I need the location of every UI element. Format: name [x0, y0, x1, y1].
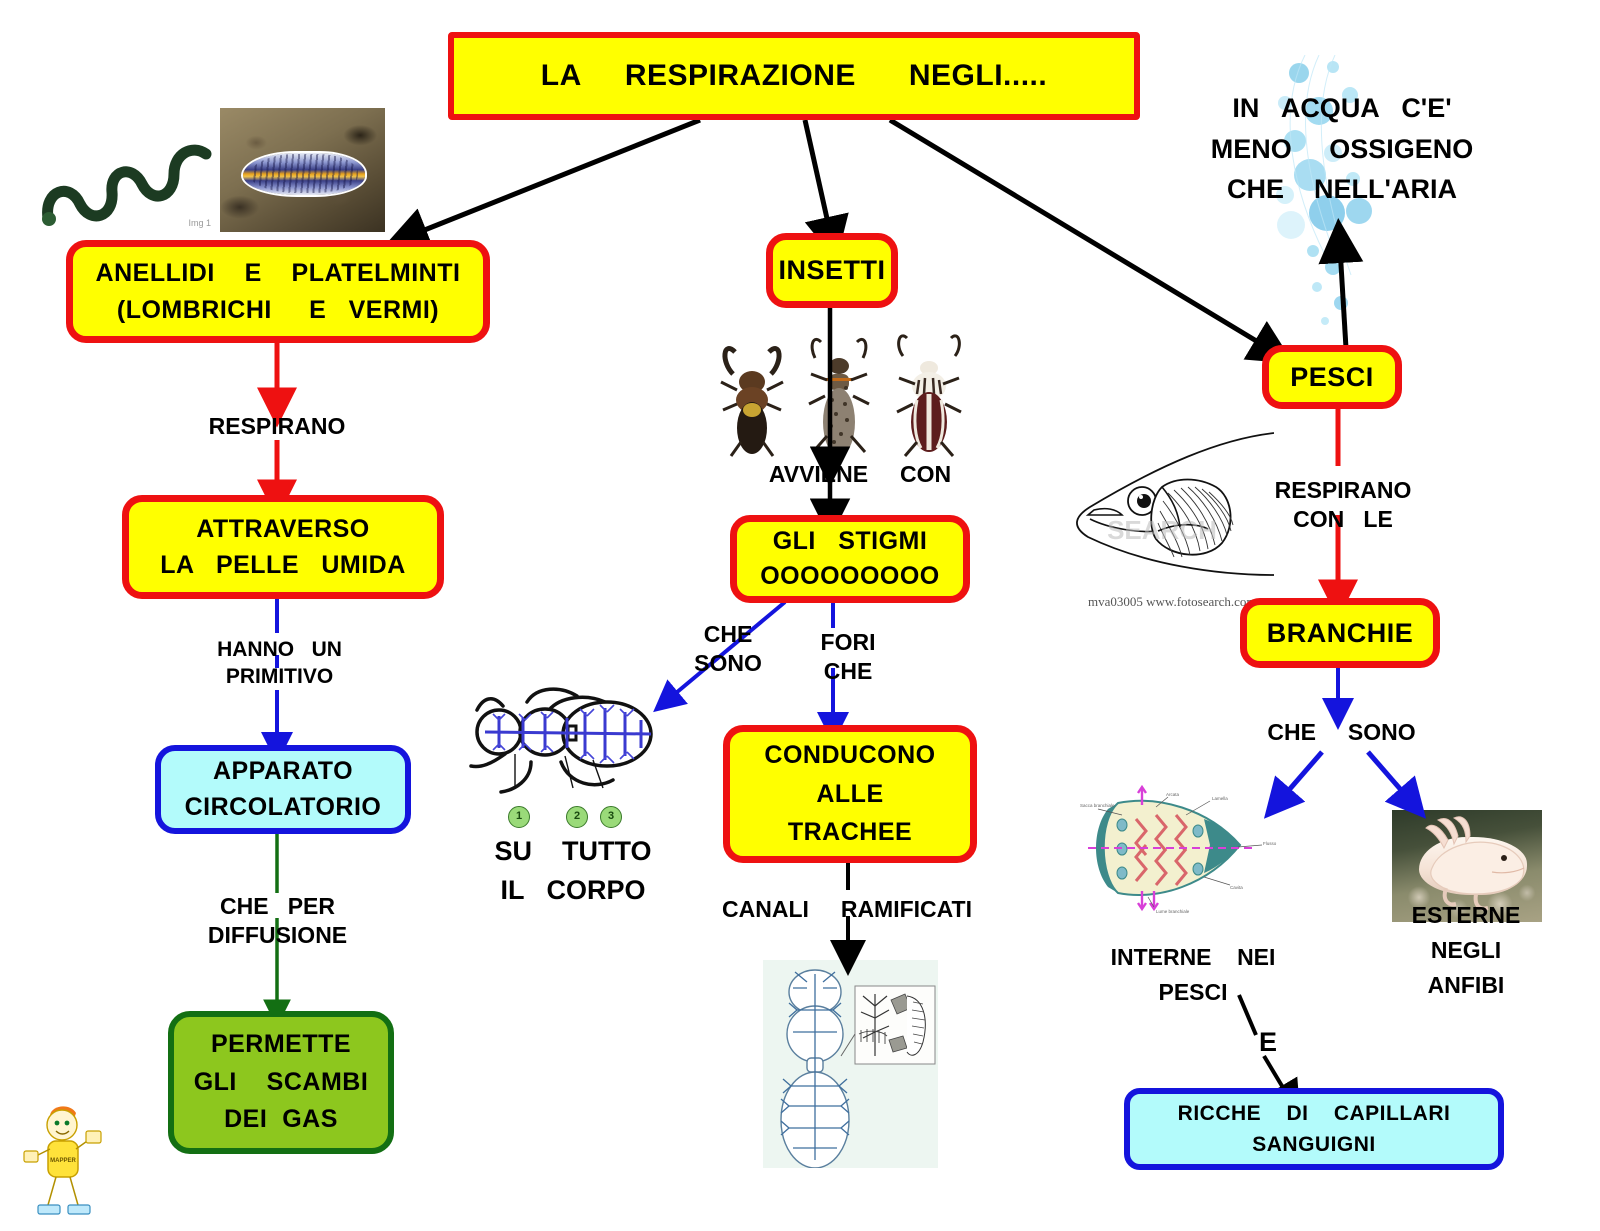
label-e-connector: E	[1248, 1025, 1288, 1060]
node-pelle-line1: ATTRAVERSO	[196, 511, 370, 547]
node-pesci-label: PESCI	[1290, 362, 1374, 393]
node-trachee-line1: CONDUCONO	[764, 736, 935, 775]
annotation-acqua-ossigeno: IN ACQUA C'E' MENO OSSIGENO CHE NELL'ARI…	[1192, 88, 1492, 210]
svg-text:Arcata: Arcata	[1166, 792, 1180, 797]
node-branchie-label: BRANCHIE	[1267, 618, 1414, 649]
svg-text:Sacca branchiale: Sacca branchiale	[1080, 803, 1115, 808]
node-stigmi-line2: OOOOOOOOO	[760, 559, 940, 595]
fish-watermark: mva03005 www.fotosearch.com	[1088, 594, 1256, 610]
node-anellidi[interactable]: ANELLIDI E PLATELMINTI (LOMBRICHI E VERM…	[66, 240, 490, 343]
ant-marker-1: 1	[508, 806, 530, 828]
label-avviene-con: AVVIENE CON	[755, 460, 965, 489]
mascot-figure: MAPPER	[20, 1095, 110, 1225]
label-fori-che: FORI CHE	[807, 628, 889, 687]
ant-marker-2: 2	[566, 806, 588, 828]
annotation-esterne-negli-anfibi: ESTERNE NEGLI ANFIBI	[1382, 898, 1550, 1003]
node-stigmi[interactable]: GLI STIGMI OOOOOOOOO	[730, 515, 970, 603]
node-pesci[interactable]: PESCI	[1262, 345, 1402, 409]
concept-map-canvas: Img 1	[0, 0, 1600, 1231]
node-capillari-line2: SANGUIGNI	[1252, 1129, 1376, 1161]
label-che-sono-left: CHE SONO	[688, 620, 768, 679]
node-trachee-line2: ALLE	[816, 775, 883, 814]
svg-text:Lamella: Lamella	[1212, 796, 1228, 801]
flatworm-body	[243, 153, 365, 195]
node-stigmi-line1: GLI STIGMI	[773, 524, 928, 560]
node-permette-line2: GLI SCAMBI	[194, 1064, 369, 1102]
node-trachee[interactable]: CONDUCONO ALLE TRACHEE	[723, 725, 977, 863]
node-title-label: LA RESPIRAZIONE NEGLI.....	[541, 59, 1047, 93]
label-che-sono-right: CHE SONO	[1254, 718, 1429, 747]
label-respirano-con-le: RESPIRANO CON LE	[1258, 476, 1428, 535]
node-anellidi-line2: (LOMBRICHI E VERMI)	[117, 292, 439, 328]
node-insetti[interactable]: INSETTI	[766, 233, 898, 308]
label-che-per-diffusione: CHE PER DIFFUSIONE	[195, 892, 360, 951]
node-pelle[interactable]: ATTRAVERSO LA PELLE UMIDA	[122, 495, 444, 599]
node-capillari[interactable]: RICCHE DI CAPILLARI SANGUIGNI	[1124, 1088, 1504, 1170]
ant-tracheal-image	[465, 680, 665, 820]
ant-marker-3: 3	[600, 806, 622, 828]
node-pelle-line2: LA PELLE UMIDA	[160, 547, 406, 583]
node-permette[interactable]: PERMETTE GLI SCAMBI DEI GAS	[168, 1011, 394, 1154]
node-apparato[interactable]: APPARATO CIRCOLATORIO	[155, 745, 411, 834]
node-branchie[interactable]: BRANCHIE	[1240, 598, 1440, 668]
svg-text:Flusso: Flusso	[1263, 841, 1277, 846]
svg-text:Lume branchiale: Lume branchiale	[1156, 909, 1190, 914]
annotation-su-tutto-il-corpo: SU TUTTO IL CORPO	[468, 832, 678, 910]
trachea-diagram	[763, 960, 938, 1168]
svg-text:MAPPER: MAPPER	[50, 1158, 76, 1164]
fish-gill-illustration: SEARCH	[1050, 415, 1274, 590]
svg-text:Cavita: Cavita	[1230, 885, 1243, 890]
node-apparato-line1: APPARATO	[213, 754, 353, 790]
node-apparato-line2: CIRCOLATORIO	[185, 790, 382, 826]
beetle-images	[715, 330, 975, 470]
node-capillari-line1: RICCHE DI CAPILLARI	[1178, 1098, 1451, 1130]
node-trachee-line3: TRACHEE	[788, 813, 912, 852]
node-title[interactable]: LA RESPIRAZIONE NEGLI.....	[448, 32, 1140, 120]
node-permette-line1: PERMETTE	[211, 1026, 351, 1064]
label-hanno-un-primitivo: HANNO UN PRIMITIVO	[197, 637, 362, 691]
annotation-interne-nei-pesci: INTERNE NEI PESCI	[1088, 940, 1298, 1009]
gill-anatomy-diagram: Arcata Lamella Flusso Cavita Lume branch…	[1078, 785, 1278, 917]
worm-image: Img 1	[40, 120, 215, 230]
worm-caption: Img 1	[188, 218, 211, 228]
label-canali-ramificati: CANALI RAMIFICATI	[718, 895, 976, 924]
node-permette-line3: DEI GAS	[224, 1101, 338, 1139]
label-respirano-left: RESPIRANO	[197, 412, 357, 441]
svg-text:SEARCH: SEARCH	[1107, 515, 1217, 545]
node-insetti-label: INSETTI	[778, 255, 885, 286]
node-anellidi-line1: ANELLIDI E PLATELMINTI	[96, 255, 461, 291]
flatworm-photo	[220, 108, 385, 232]
